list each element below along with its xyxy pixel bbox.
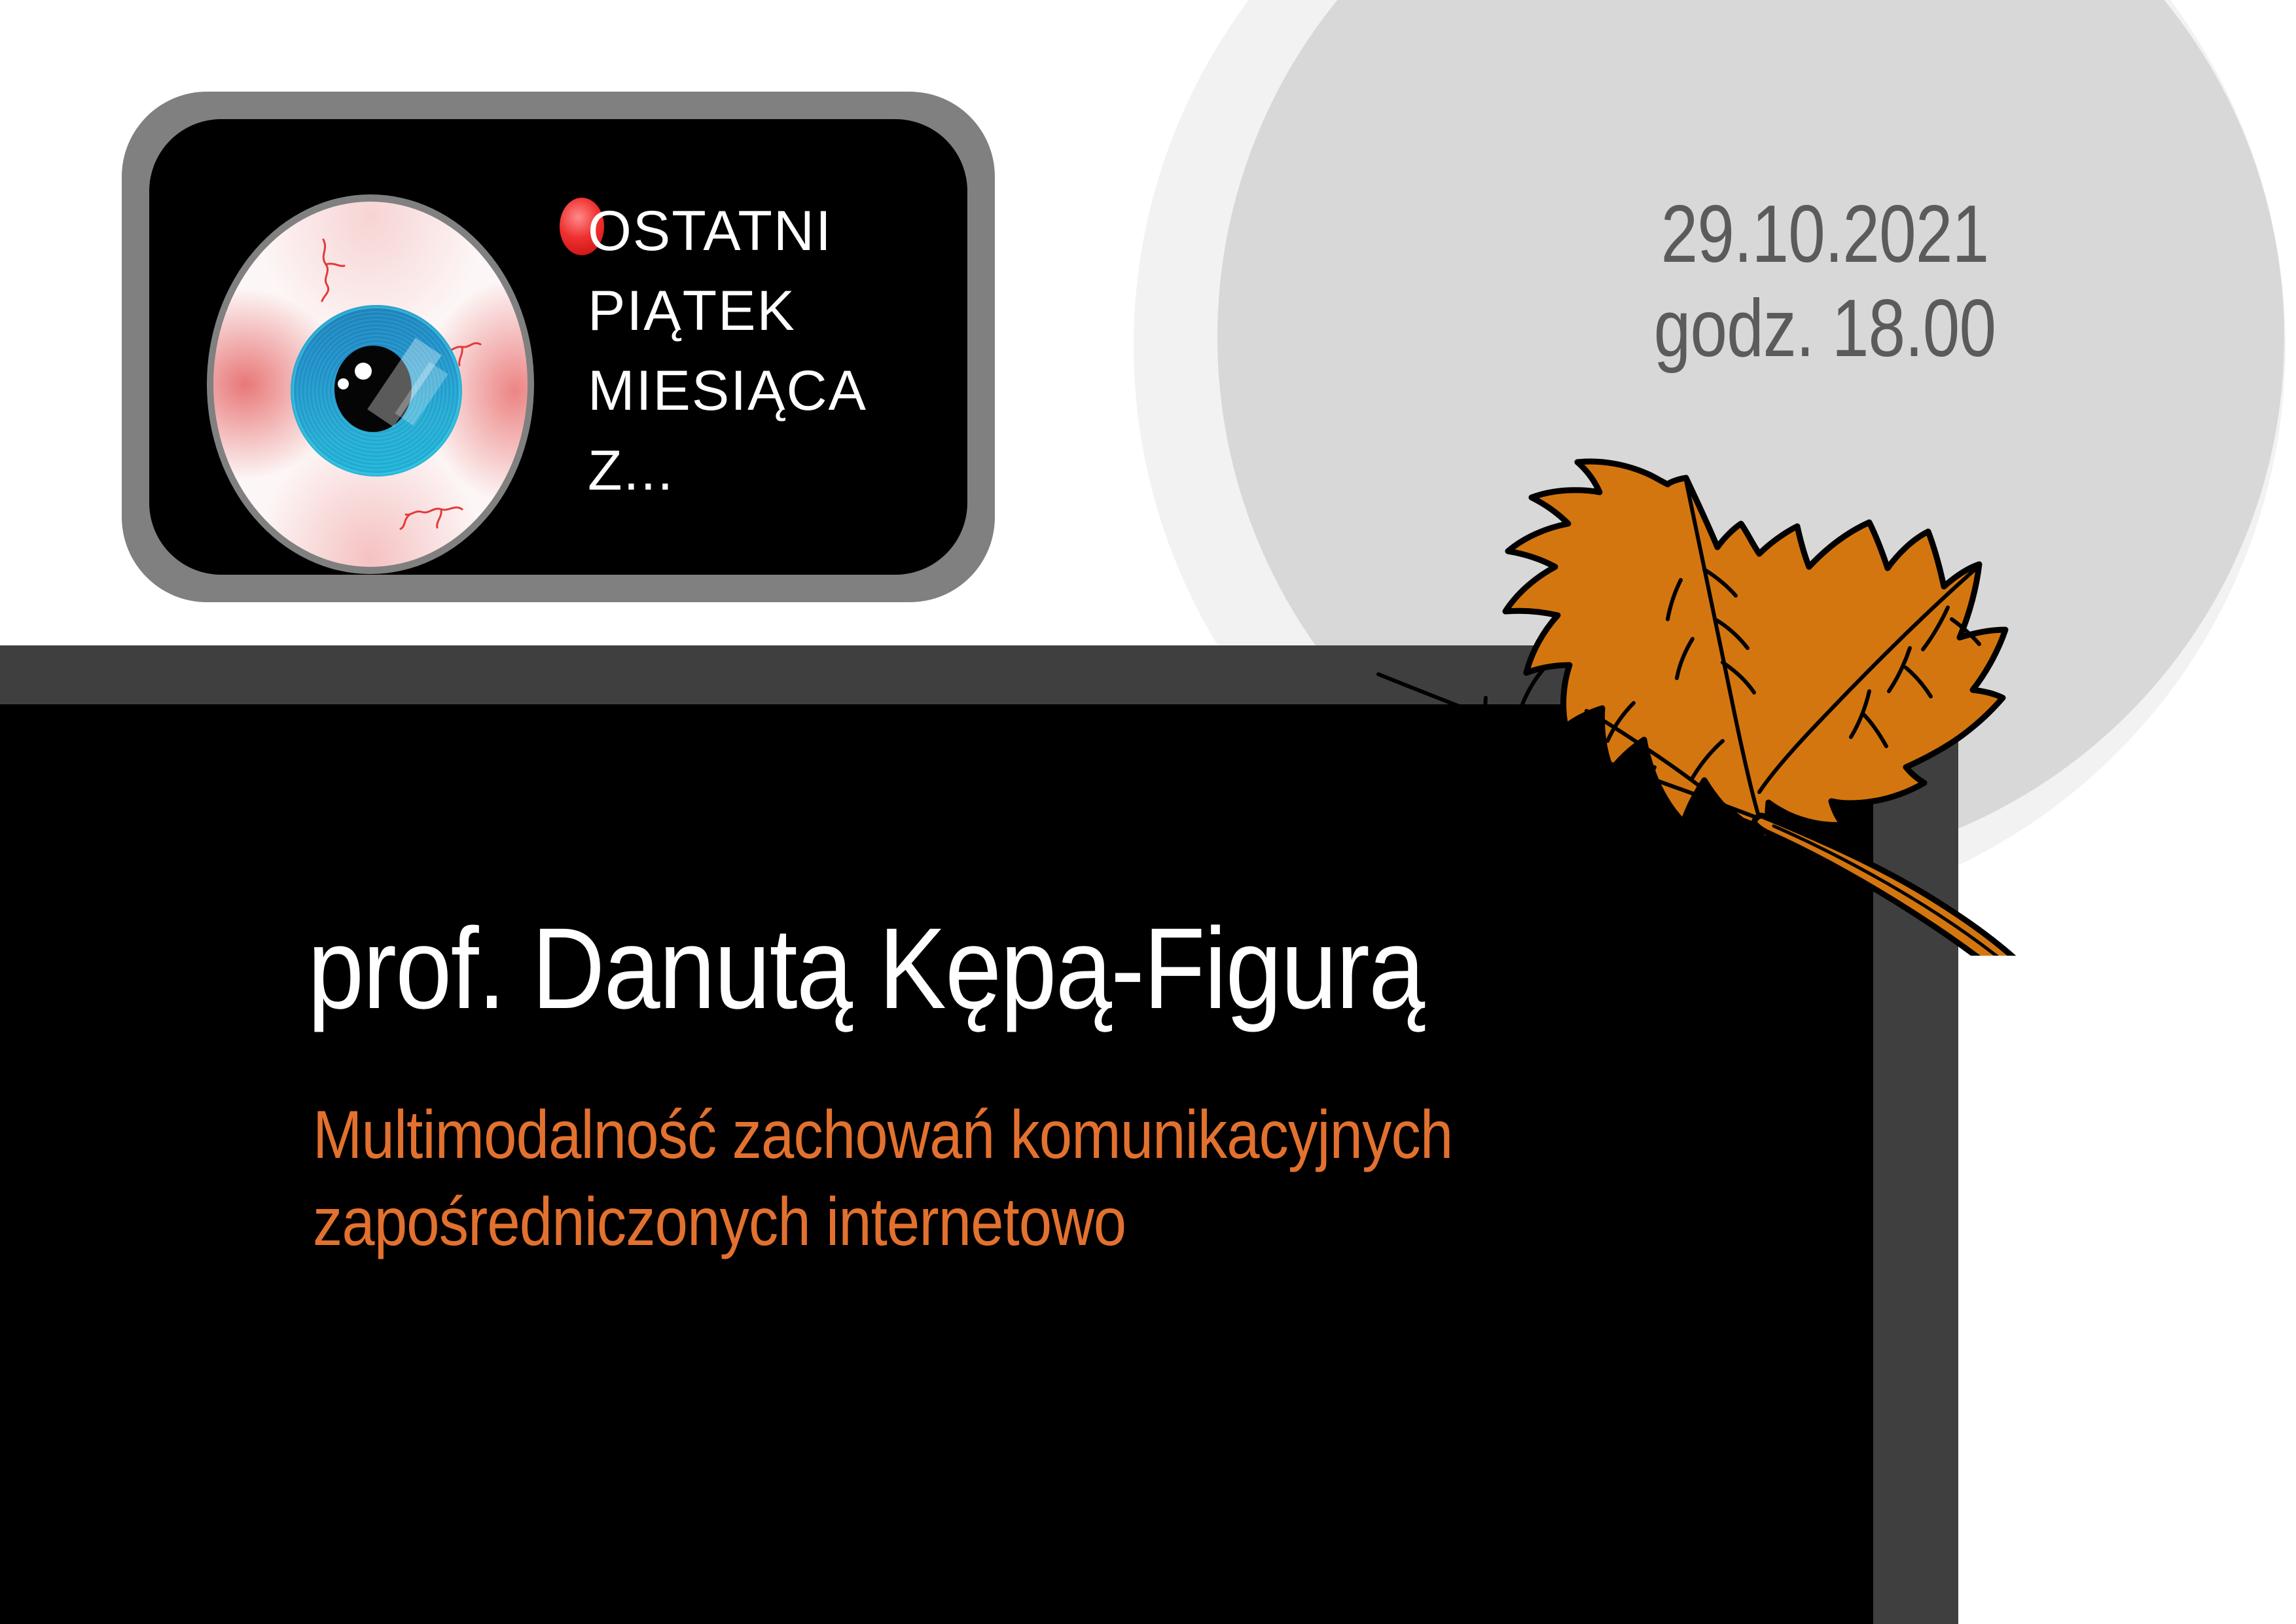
pupil-highlight-small-icon	[338, 378, 349, 389]
event-date: 29.10.2021	[1615, 194, 2034, 275]
eyeball-socket	[207, 194, 534, 574]
webcam-device: OSTATNI PIĄTEK MIESIĄCA Z...	[122, 92, 995, 602]
speaker-name: prof. Danutą Kępą-Figurą	[308, 909, 1424, 1030]
pupil-highlight-large-icon	[355, 363, 372, 380]
talk-title: Multimodalność zachowań komunikacyjnych …	[313, 1092, 1452, 1266]
event-time: godz. 18.00	[1615, 288, 2034, 369]
webcam-caption: OSTATNI PIĄTEK MIESIĄCA Z...	[588, 191, 867, 511]
maple-leaf-icon	[1322, 452, 2199, 956]
event-datetime: 29.10.2021 godz. 18.00	[1615, 194, 2034, 369]
webcam-screen: OSTATNI PIĄTEK MIESIĄCA Z...	[149, 119, 967, 575]
poster-canvas: 29.10.2021 godz. 18.00	[0, 0, 2296, 1624]
webcam-frame: OSTATNI PIĄTEK MIESIĄCA Z...	[122, 92, 995, 602]
iris	[291, 305, 462, 477]
eyeball-icon	[213, 202, 528, 567]
